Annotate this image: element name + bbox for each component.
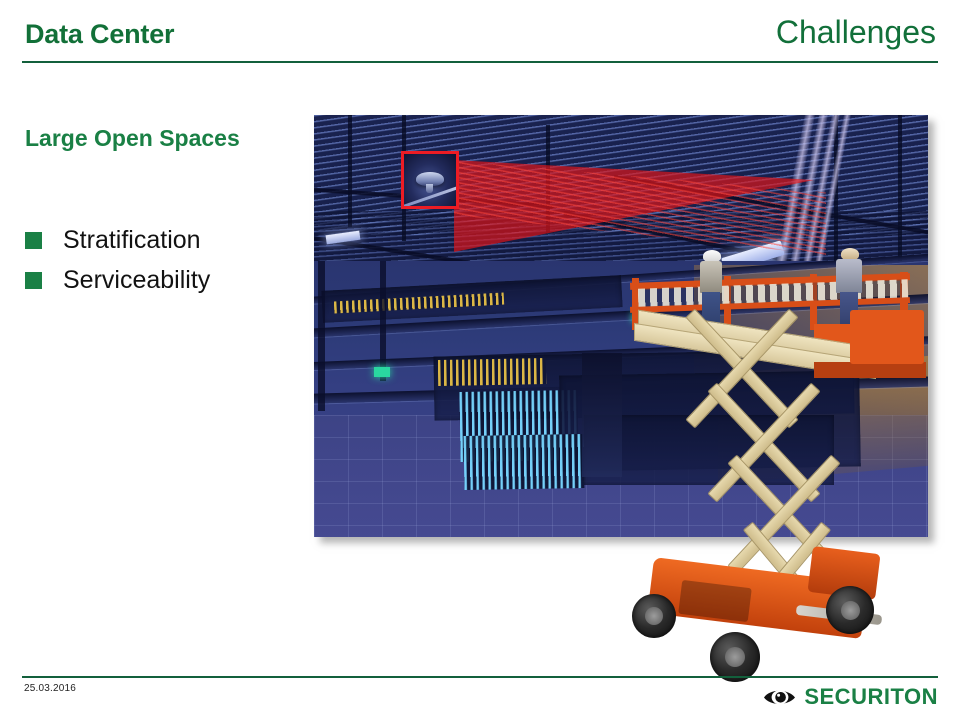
list-item: Stratification <box>25 220 305 260</box>
lift-wheel-hub <box>841 601 860 620</box>
detector-stem <box>426 184 433 193</box>
securiton-wordmark: SECURITON <box>804 686 938 708</box>
content-heading: Large Open Spaces <box>25 122 275 155</box>
worker-figure <box>836 259 862 293</box>
ceiling-column <box>348 115 352 227</box>
page-subtitle: Challenges <box>776 14 936 51</box>
square-bullet-icon <box>25 232 42 249</box>
list-item-label: Stratification <box>63 228 201 253</box>
securiton-logo: SECURITON <box>763 684 938 710</box>
footer-divider <box>22 676 938 678</box>
hall-column <box>318 261 325 411</box>
list-item: Serviceability <box>25 260 305 300</box>
scissor-lift <box>614 250 960 670</box>
square-bullet-icon <box>25 272 42 289</box>
equipment-indicator <box>374 367 390 377</box>
hall-column <box>380 261 386 381</box>
eye-icon <box>763 687 797 707</box>
slide-date: 25.03.2016 <box>24 683 76 694</box>
worker-figure <box>700 261 722 293</box>
rack-indicator-lights <box>464 434 585 490</box>
bullet-list: Stratification Serviceability <box>25 220 305 300</box>
slide-header: Data Center Challenges <box>0 0 960 66</box>
lift-wheel-hub <box>725 647 745 667</box>
lift-platform-body <box>850 310 924 364</box>
lift-wheel-hub <box>645 607 663 625</box>
lift-platform-underside <box>814 362 926 378</box>
page-title: Data Center <box>25 19 174 50</box>
list-item-label: Serviceability <box>63 268 210 293</box>
rack-indicator-lights <box>438 358 546 386</box>
header-divider <box>22 61 938 63</box>
aspirating-detector-inset <box>401 151 459 209</box>
